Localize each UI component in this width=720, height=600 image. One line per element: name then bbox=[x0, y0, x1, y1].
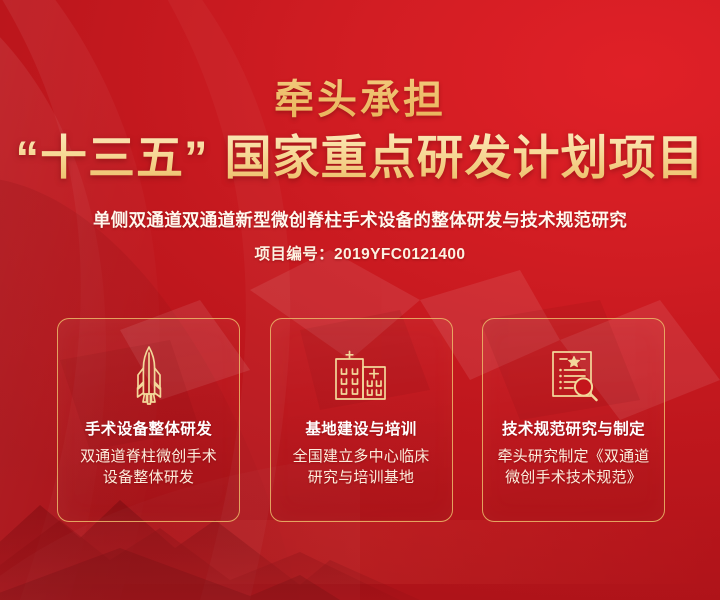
card-desc-line-2: 设备整体研发 bbox=[103, 469, 194, 486]
feature-card-standards[interactable]: 技术规范研究与制定 牵头研究制定《双通道微创手术技术规范》 bbox=[482, 318, 665, 522]
feature-card-base-training[interactable]: 基地建设与培训 全国建立多中心临床研究与培训基地 bbox=[270, 318, 453, 522]
poster-header: 牵头承担 “十三五”国家重点研发计划项目 单侧双通道双通道新型微创脊柱手术设备的… bbox=[0, 0, 720, 265]
heading-program-name: 国家重点研发计划项目 bbox=[225, 131, 705, 184]
card-description: 牵头研究制定《双通道微创手术技术规范》 bbox=[490, 439, 658, 488]
card-title: 手术设备整体研发 bbox=[85, 419, 212, 439]
heading-line-1: 牵头承担 bbox=[0, 0, 720, 122]
card-desc-line-1: 牵头研究制定《双通道 bbox=[497, 448, 649, 465]
feature-card-equipment[interactable]: 手术设备整体研发 双通道脊柱微创手术设备整体研发 bbox=[57, 318, 240, 522]
card-desc-line-1: 双通道脊柱微创手术 bbox=[80, 448, 217, 465]
card-description: 全国建立多中心临床研究与培训基地 bbox=[277, 439, 445, 488]
card-title: 基地建设与培训 bbox=[305, 419, 416, 439]
heading-line-2: “十三五”国家重点研发计划项目 bbox=[0, 122, 720, 184]
rocket-icon bbox=[129, 319, 169, 419]
feature-card-list: 手术设备整体研发 双通道脊柱微创手术设备整体研发 bbox=[57, 318, 665, 522]
project-number: 项目编号：2019YFC0121400 bbox=[0, 232, 720, 265]
card-desc-line-2: 研究与培训基地 bbox=[308, 469, 414, 486]
poster-canvas: 牵头承担 “十三五”国家重点研发计划项目 单侧双通道双通道新型微创脊柱手术设备的… bbox=[0, 0, 720, 600]
card-desc-line-1: 全国建立多中心临床 bbox=[293, 448, 430, 465]
card-description: 双通道脊柱微创手术设备整体研发 bbox=[65, 439, 233, 488]
hospital-building-icon bbox=[332, 319, 390, 419]
project-subtitle: 单侧双通道双通道新型微创脊柱手术设备的整体研发与技术规范研究 bbox=[0, 184, 720, 232]
document-magnifier-icon bbox=[547, 319, 601, 419]
heading-quoted-term: “十三五” bbox=[16, 131, 209, 184]
card-desc-line-2: 微创手术技术规范》 bbox=[505, 469, 642, 486]
card-title: 技术规范研究与制定 bbox=[502, 419, 645, 439]
